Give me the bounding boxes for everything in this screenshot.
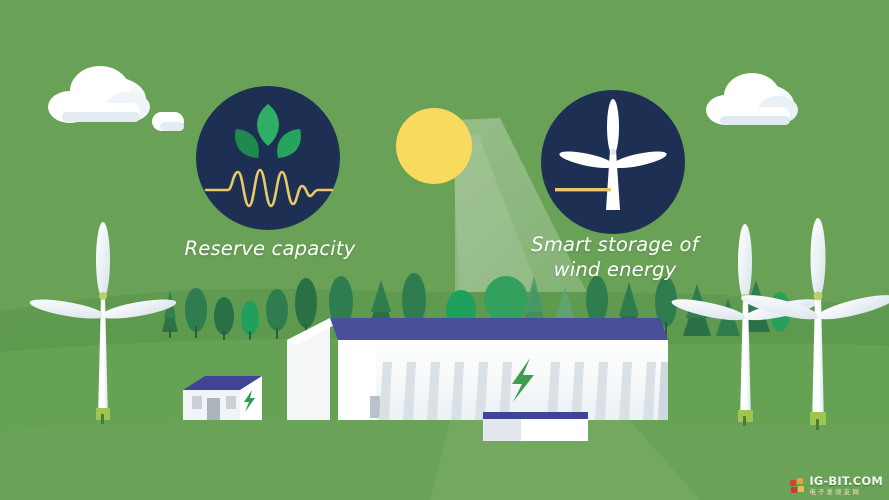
tree-blob bbox=[484, 276, 528, 324]
badge-reserve-capacity[interactable] bbox=[196, 86, 340, 230]
icon-turbine-blade bbox=[607, 99, 619, 155]
annex-roof bbox=[483, 412, 588, 420]
turbine-hub bbox=[814, 292, 823, 301]
watermark-domain: IG-BIT.COM bbox=[809, 476, 883, 488]
small-house bbox=[183, 376, 262, 420]
turbine-blade bbox=[738, 224, 752, 300]
annex-wall-shade bbox=[483, 419, 521, 441]
house-window bbox=[192, 396, 202, 409]
warehouse-roof bbox=[330, 318, 668, 340]
watermark-text: IG-BIT.COM 电子发烧友网 bbox=[809, 476, 883, 495]
watermark-logo-icon bbox=[790, 478, 806, 494]
warehouse-sidedoor bbox=[370, 396, 380, 418]
infographic-canvas: Reserve capacity Smart storage of wind e… bbox=[0, 0, 889, 500]
turbine-blade bbox=[811, 218, 826, 298]
cloud-small-left bbox=[152, 112, 184, 131]
sun bbox=[396, 108, 472, 184]
ig-bit-watermark: IG-BIT.COM 电子发烧友网 bbox=[790, 476, 883, 495]
turbine-hub bbox=[99, 292, 107, 300]
turbine-blade bbox=[96, 222, 110, 298]
house-window bbox=[226, 396, 236, 409]
warehouse-annex bbox=[483, 412, 588, 441]
house-door bbox=[207, 398, 220, 420]
watermark-subtitle: 电子发烧友网 bbox=[809, 489, 883, 496]
landscape-layer bbox=[0, 0, 889, 500]
icon-baseline-bar bbox=[555, 188, 611, 191]
icon-turbine-hub bbox=[610, 149, 616, 155]
badge-smart-storage[interactable] bbox=[541, 90, 685, 234]
